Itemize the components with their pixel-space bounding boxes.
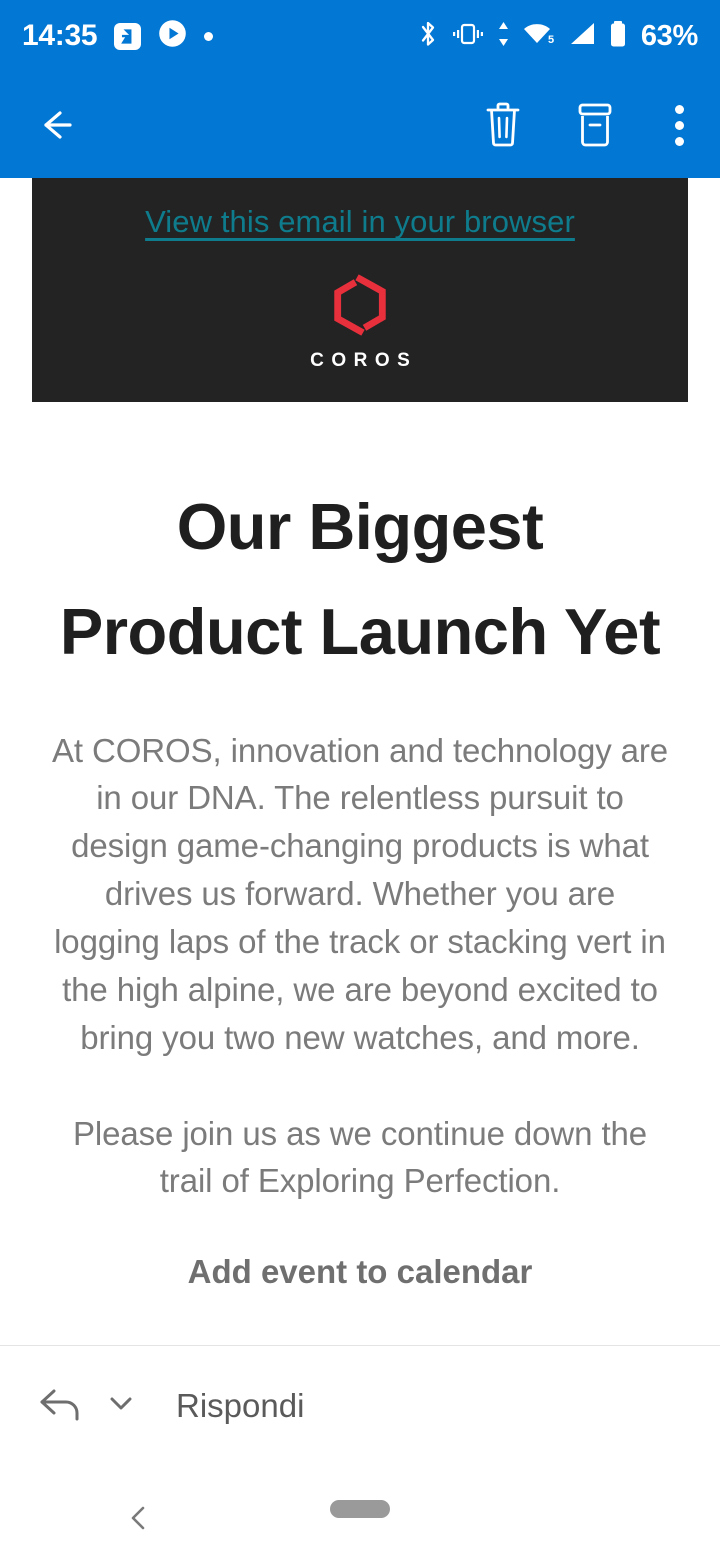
battery-icon bbox=[608, 19, 628, 54]
play-circle-icon bbox=[158, 19, 187, 53]
home-gesture-pill[interactable] bbox=[330, 1500, 390, 1518]
toolbar-actions bbox=[481, 101, 694, 150]
vibrate-icon bbox=[451, 20, 485, 53]
email-headline: Our Biggest Product Launch Yet bbox=[50, 474, 670, 685]
reply-arrow-icon[interactable] bbox=[36, 1381, 84, 1430]
back-arrow-icon[interactable] bbox=[30, 101, 78, 149]
battery-percent-label: 63% bbox=[641, 20, 698, 53]
svg-text:5: 5 bbox=[548, 34, 554, 46]
wifi-5-icon: 5 bbox=[522, 20, 556, 53]
email-content-area[interactable]: View this email in your browser COROS Ou… bbox=[0, 178, 720, 1345]
view-in-browser-link[interactable]: View this email in your browser bbox=[145, 204, 575, 240]
chevron-down-icon[interactable] bbox=[104, 1386, 138, 1425]
status-bar: 14:35 bbox=[0, 0, 720, 72]
nav-back-chevron-icon[interactable] bbox=[124, 1503, 154, 1538]
email-hero-banner: View this email in your browser COROS bbox=[32, 178, 688, 402]
reply-bar[interactable]: Rispondi bbox=[0, 1345, 720, 1465]
phone-screen: 14:35 bbox=[0, 0, 720, 1560]
app-notification-icon bbox=[114, 23, 141, 50]
add-event-to-calendar-link[interactable]: Add event to calendar bbox=[50, 1253, 670, 1291]
archive-icon[interactable] bbox=[573, 102, 617, 148]
more-options-icon[interactable] bbox=[665, 101, 694, 150]
email-paragraph-1: At COROS, innovation and technology are … bbox=[50, 727, 670, 1062]
bluetooth-icon bbox=[416, 19, 440, 54]
email-toolbar bbox=[0, 72, 720, 178]
delete-icon[interactable] bbox=[481, 102, 525, 148]
coros-logo: COROS bbox=[32, 274, 688, 372]
email-paragraph-2: Please join us as we continue down the t… bbox=[50, 1110, 670, 1206]
coros-hexagon-icon bbox=[329, 274, 391, 341]
status-bar-left: 14:35 bbox=[22, 19, 213, 53]
coros-wordmark: COROS bbox=[303, 350, 418, 372]
email-body: Our Biggest Product Launch Yet At COROS,… bbox=[0, 474, 720, 1291]
status-bar-clock: 14:35 bbox=[22, 19, 97, 53]
status-bar-right: 5 63% bbox=[416, 19, 698, 54]
cellular-signal-icon bbox=[567, 20, 597, 53]
reply-label[interactable]: Rispondi bbox=[176, 1387, 304, 1425]
data-transfer-icon bbox=[496, 20, 511, 53]
notification-dot-icon bbox=[204, 32, 213, 41]
